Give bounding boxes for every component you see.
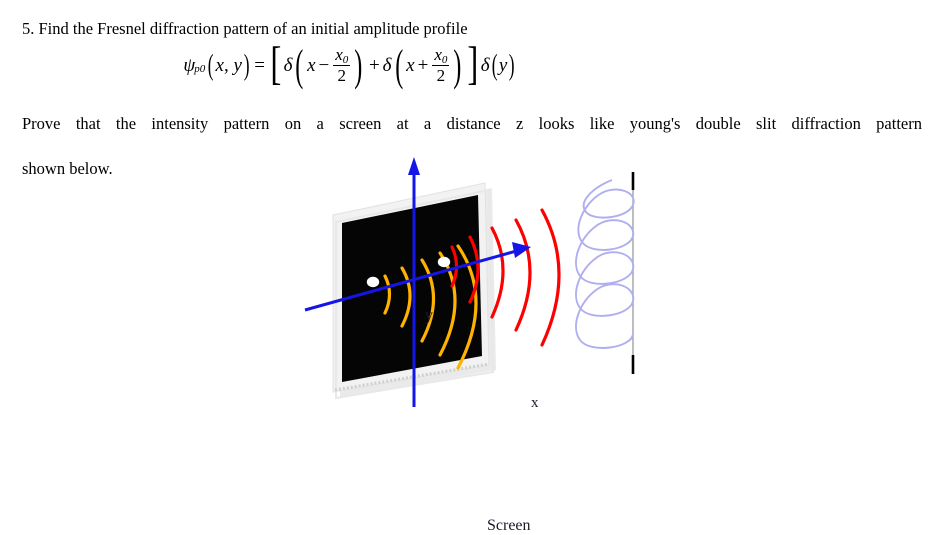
- equation-plus-sign: +: [415, 56, 432, 75]
- equation-fraction-2-numerator: x0: [432, 46, 449, 64]
- plate-face: [342, 195, 482, 382]
- equation-lparen-args: (: [208, 52, 214, 78]
- equation-fraction-2-denominator: 2: [435, 67, 448, 85]
- equation-close-paren-2: ): [454, 50, 462, 82]
- equation-open-paren-1: (: [296, 50, 304, 82]
- equation-equals: =: [251, 56, 268, 75]
- axis-label-x: x: [531, 395, 539, 412]
- equation-psi-subscript: p0: [194, 64, 205, 75]
- equation-y-rparen: ): [509, 52, 515, 78]
- equation-arg-x: x: [216, 56, 224, 75]
- intensity-curve: [576, 180, 634, 348]
- equation-y-var: y: [499, 56, 507, 75]
- equation-open-paren-2: (: [395, 50, 403, 82]
- axis-label-y: y: [425, 307, 433, 325]
- equation-rparen-args: ): [244, 52, 250, 78]
- slit-dot-right: [438, 257, 450, 267]
- diffraction-figure: y x Screen: [0, 150, 938, 407]
- y-axis-arrowhead: [408, 157, 420, 175]
- equation-close-paren-1: ): [355, 50, 363, 82]
- equation-open-bracket: [: [270, 48, 281, 82]
- equation-delta-1: δ: [284, 56, 293, 75]
- equation-minus: −: [316, 56, 333, 75]
- equation-close-bracket: ]: [467, 48, 478, 82]
- equation-delta-3: δ: [481, 56, 490, 75]
- intensity-pattern: [576, 172, 634, 374]
- equation-fraction-1-numerator: x0: [333, 46, 350, 64]
- equation-plus: +: [366, 56, 383, 75]
- screen-label: Screen: [487, 517, 531, 535]
- equation-fraction-2: x0 2: [432, 46, 449, 85]
- equation-var-2: x: [406, 56, 414, 75]
- question-text-block: 5. Find the Fresnel diffraction pattern …: [22, 18, 922, 40]
- equation-delta-2: δ: [383, 56, 392, 75]
- equation-var-1: x: [307, 56, 315, 75]
- amplitude-profile-equation: ψp0 (x, y) = [ δ ( x − x0 2 ) + δ ( x + …: [0, 46, 700, 85]
- equation-fraction-1-denominator: 2: [336, 67, 349, 85]
- equation-y-lparen: (: [491, 52, 497, 78]
- equation-fraction-1: x0 2: [333, 46, 350, 85]
- slit-dot-left: [367, 277, 379, 287]
- question-line-1: 5. Find the Fresnel diffraction pattern …: [22, 18, 922, 40]
- equation-arg-y: y: [233, 56, 241, 75]
